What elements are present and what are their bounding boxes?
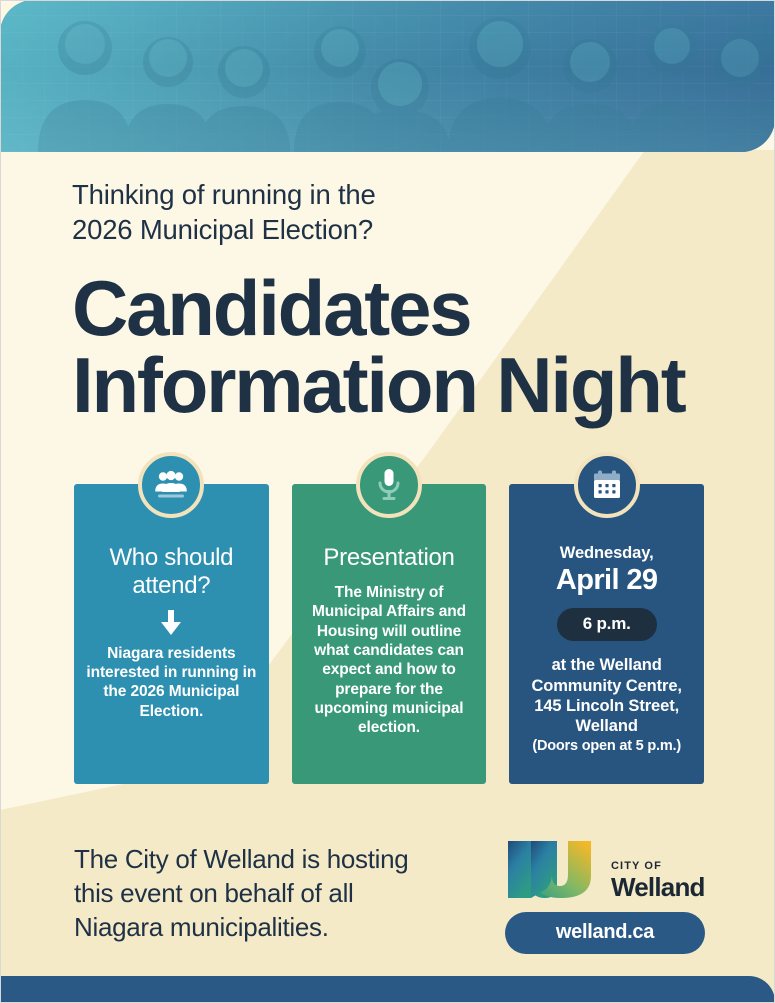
- footer-line-2: this event on behalf of all: [74, 877, 474, 911]
- footer-line-1: The City of Welland is hosting: [74, 843, 474, 877]
- card-body: The Ministry of Municipal Affairs and Ho…: [304, 583, 475, 738]
- info-cards-row: Who should attend? Niagara residents int…: [74, 484, 704, 784]
- card-body: Niagara residents interested in running …: [86, 644, 257, 722]
- title-line-2: Information Night: [72, 347, 685, 424]
- brand-logo-row: CITY OF Welland: [505, 838, 710, 902]
- title-line-1: Candidates: [72, 270, 685, 347]
- bottom-accent-bar: [0, 976, 775, 1003]
- event-venue: at the Welland Community Centre, 145 Lin…: [521, 655, 692, 736]
- venue-line-4: Welland: [521, 716, 692, 736]
- photo-fade: [0, 0, 775, 152]
- welland-wordmark: CITY OF Welland: [611, 861, 705, 902]
- card-event-details: Wednesday, April 29 6 p.m. at the Wellan…: [509, 484, 704, 784]
- poster: Thinking of running in the 2026 Municipa…: [0, 0, 775, 1003]
- card-presentation: Presentation The Ministry of Municipal A…: [292, 484, 487, 784]
- venue-line-3: 145 Lincoln Street,: [521, 696, 692, 716]
- card-title: Presentation: [304, 544, 475, 572]
- header-photo: [0, 0, 775, 152]
- event-date: April 29: [521, 564, 692, 596]
- footer-line-3: Niagara municipalities.: [74, 911, 474, 945]
- microphone-icon: [356, 452, 422, 518]
- calendar-icon: [574, 452, 640, 518]
- venue-line-2: Community Centre,: [521, 676, 692, 696]
- kicker-text: Thinking of running in the 2026 Municipa…: [72, 178, 685, 248]
- footer-statement: The City of Welland is hosting this even…: [74, 843, 474, 944]
- kicker-line-2: 2026 Municipal Election?: [72, 213, 685, 248]
- doors-open-note: (Doors open at 5 p.m.): [521, 738, 692, 755]
- brand-block: CITY OF Welland welland.ca: [505, 838, 710, 954]
- wordmark-city-of: CITY OF: [611, 861, 705, 872]
- page-title: Candidates Information Night: [72, 270, 685, 424]
- wordmark-welland: Welland: [611, 874, 705, 900]
- headline-block: Thinking of running in the 2026 Municipa…: [72, 178, 685, 424]
- kicker-line-1: Thinking of running in the: [72, 178, 685, 213]
- venue-line-1: at the Welland: [521, 655, 692, 675]
- event-time-badge: 6 p.m.: [557, 608, 657, 641]
- website-button[interactable]: welland.ca: [505, 912, 705, 954]
- card-who-should-attend: Who should attend? Niagara residents int…: [74, 484, 269, 784]
- event-day: Wednesday,: [521, 544, 692, 563]
- card-title: Who should attend?: [86, 544, 257, 600]
- welland-w-logo: [505, 838, 605, 902]
- arrow-down-icon: [160, 610, 182, 636]
- people-group-icon: [138, 452, 204, 518]
